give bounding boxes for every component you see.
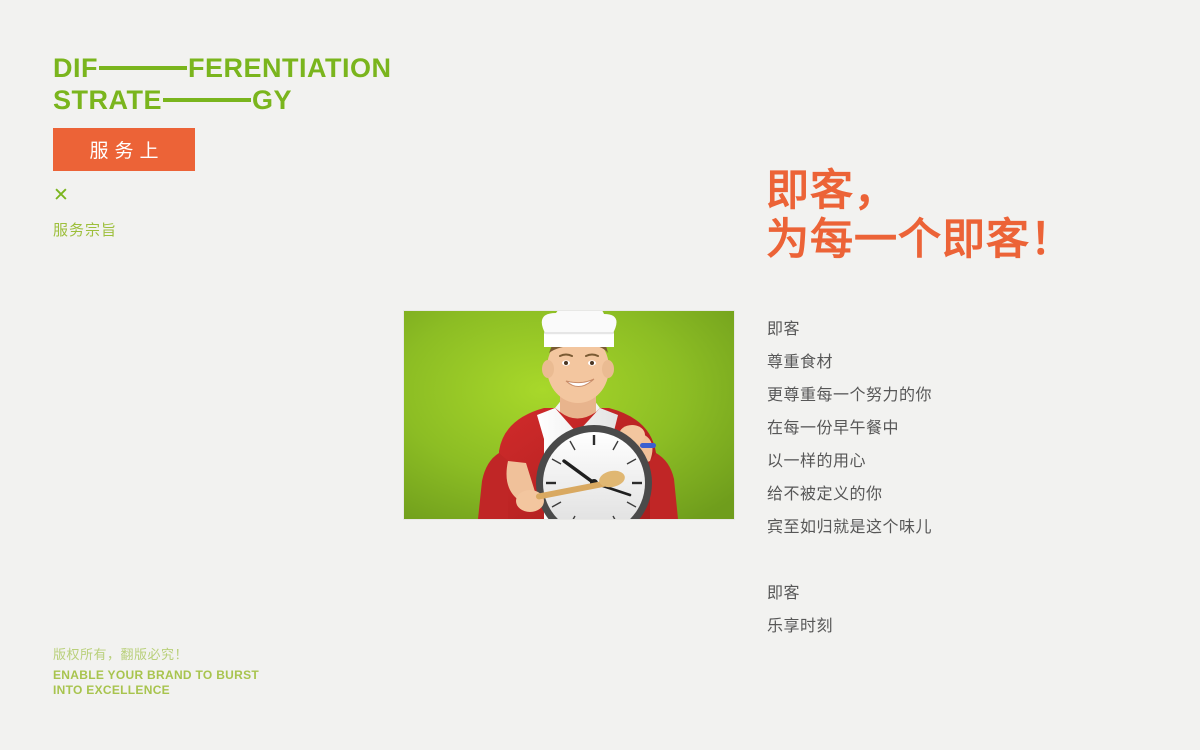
body-line: 以一样的用心 [767,445,932,478]
footer-tagline: ENABLE YOUR BRAND TO BURST INTO EXCELLEN… [53,668,259,698]
body-line: 在每一份早午餐中 [767,412,932,445]
logo-text-ferentiation: FERENTIATION [188,52,392,84]
body-line: 更尊重每一个努力的你 [767,379,932,412]
headline-line-2: 为每一个即客！ [766,216,1074,265]
footer-tagline-line-2: INTO EXCELLENCE [53,683,259,698]
body-line: 给不被定义的你 [767,478,932,511]
body-line: 乐享时刻 [767,610,932,643]
logo-rule-icon-2 [163,98,251,102]
brand-logo: DIF FERENTIATION STRATE GY [53,52,392,116]
presentation-slide: DIF FERENTIATION STRATE GY 服务上 ✕ 服务宗旨 [0,0,1200,750]
body-paragraph-1: 即客 尊重食材 更尊重每一个努力的你 在每一份早午餐中 以一样的用心 给不被定义… [767,313,932,544]
body-paragraph-2: 即客 乐享时刻 [767,577,932,643]
body-copy: 即客 尊重食材 更尊重每一个努力的你 在每一份早午餐中 以一样的用心 给不被定义… [767,313,932,643]
logo-line-1: DIF FERENTIATION [53,52,392,84]
chef-photo [404,311,734,519]
section-subtitle: 服务宗旨 [53,221,117,241]
page-title: 即客， 为每一个即客！ [766,167,1074,265]
service-tag-button[interactable]: 服务上 [53,128,195,171]
body-line: 宾至如归就是这个味儿 [767,511,932,544]
logo-line-2: STRATE GY [53,84,392,116]
body-line: 尊重食材 [767,346,932,379]
body-line: 即客 [767,577,932,610]
copyright-notice: 版权所有，翻版必究！ [53,645,259,665]
footer: 版权所有，翻版必究！ ENABLE YOUR BRAND TO BURST IN… [53,645,259,698]
logo-text-gy: GY [252,84,292,116]
headline-line-1: 即客， [766,167,1074,216]
x-mark-icon: ✕ [53,186,69,206]
footer-tagline-line-1: ENABLE YOUR BRAND TO BURST [53,668,259,683]
logo-text-dif: DIF [53,52,98,84]
body-line: 即客 [767,313,932,346]
logo-rule-icon [99,66,187,70]
chef-photo-illustration [404,311,734,519]
logo-text-strate: STRATE [53,84,162,116]
